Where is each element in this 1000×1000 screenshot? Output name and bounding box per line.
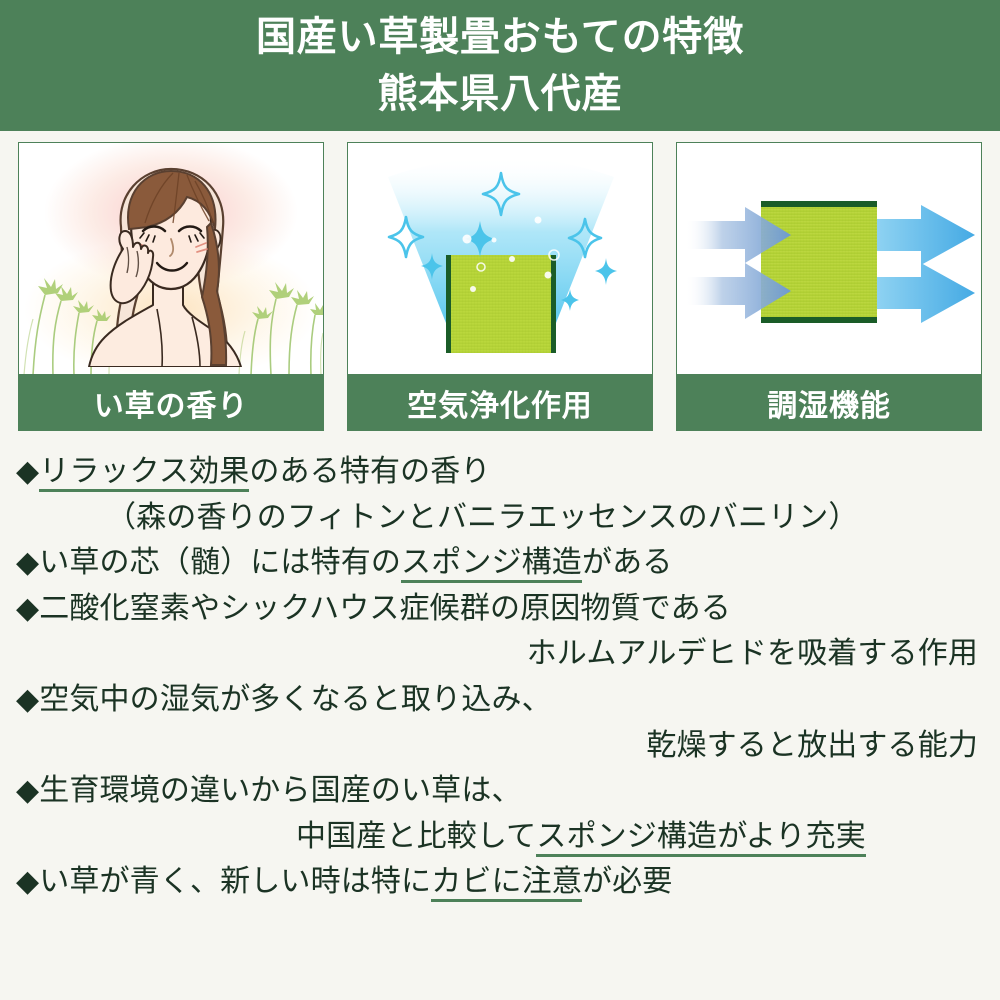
feature-text: のある特有の香り bbox=[249, 455, 490, 488]
feature-text: ホルムアルデヒドを吸着する作用 bbox=[527, 637, 978, 670]
highlighted-term: カビに注意 bbox=[431, 865, 582, 902]
bullet-diamond-icon: ◆ bbox=[16, 683, 39, 716]
feature-line: ◆空気中の湿気が多くなると取り込み、 bbox=[16, 677, 984, 723]
humidity-control-illustration bbox=[677, 143, 982, 374]
feature-text: い草の芯（髄）には特有の bbox=[39, 546, 401, 579]
feature-line: ◆生育環境の違いから国産のい草は、 bbox=[16, 768, 984, 814]
highlighted-term: リラックス効果 bbox=[39, 455, 249, 492]
feature-text: 乾燥すると放出する能力 bbox=[646, 729, 978, 762]
feature-line: 乾燥すると放出する能力 bbox=[16, 723, 984, 769]
humidity-figure bbox=[676, 142, 982, 374]
feature-line: ◆い草が青く、新しい時は特にカビに注意が必要 bbox=[16, 859, 984, 905]
feature-line: ◆二酸化窒素やシックハウス症候群の原因物質である bbox=[16, 586, 984, 632]
bullet-diamond-icon: ◆ bbox=[16, 865, 39, 898]
bullet-diamond-icon: ◆ bbox=[16, 592, 39, 625]
feature-text: （森の香りのフィトンとバニラエッセンスのバニリン） bbox=[106, 501, 859, 534]
aroma-figure bbox=[18, 142, 324, 374]
highlighted-term: スポンジ構造 bbox=[401, 546, 582, 583]
card-label-humidity: 調湿機能 bbox=[676, 374, 982, 431]
feature-text: 生育環境の違いから国産のい草は、 bbox=[39, 774, 521, 807]
bullet-diamond-icon: ◆ bbox=[16, 774, 39, 807]
feature-text: 二酸化窒素やシックハウス症候群の原因物質である bbox=[39, 592, 731, 625]
feature-card-humidity: 調湿機能 bbox=[676, 142, 982, 431]
feature-text: 中国産と比較して bbox=[296, 820, 536, 853]
feature-card-row: い草の香り bbox=[0, 131, 1000, 431]
feature-card-aroma: い草の香り bbox=[18, 142, 324, 431]
highlighted-term: スポンジ構造がより充実 bbox=[536, 820, 866, 857]
page-title-line1: 国産い草製畳おもての特徴 bbox=[256, 9, 744, 66]
feature-text: い草が青く、新しい時は特に bbox=[39, 865, 431, 898]
purification-figure bbox=[347, 142, 653, 374]
feature-line: ◆リラックス効果のある特有の香り bbox=[16, 449, 984, 495]
page-title-line2: 熊本県八代産 bbox=[378, 66, 623, 123]
card-label-aroma: い草の香り bbox=[18, 374, 324, 431]
bullet-diamond-icon: ◆ bbox=[16, 455, 39, 488]
feature-line: ◆い草の芯（髄）には特有のスポンジ構造がある bbox=[16, 540, 984, 586]
feature-line: ホルムアルデヒドを吸着する作用 bbox=[16, 631, 984, 677]
infographic-page: 国産い草製畳おもての特徴 熊本県八代産 bbox=[0, 0, 1000, 1000]
feature-line: （森の香りのフィトンとバニラエッセンスのバニリン） bbox=[16, 495, 984, 541]
air-purification-illustration bbox=[348, 143, 653, 374]
feature-text: が必要 bbox=[582, 865, 672, 898]
feature-text: がある bbox=[582, 546, 672, 579]
feature-card-purification: 空気浄化作用 bbox=[347, 142, 653, 431]
page-header: 国産い草製畳おもての特徴 熊本県八代産 bbox=[0, 0, 1000, 131]
feature-list: ◆リラックス効果のある特有の香り（森の香りのフィトンとバニラエッセンスのバニリン… bbox=[0, 431, 1000, 905]
woman-illustration bbox=[61, 157, 281, 367]
card-label-purification: 空気浄化作用 bbox=[347, 374, 653, 431]
feature-text: 空気中の湿気が多くなると取り込み、 bbox=[39, 683, 552, 716]
feature-line: 中国産と比較してスポンジ構造がより充実 bbox=[16, 814, 984, 860]
bullet-diamond-icon: ◆ bbox=[16, 546, 39, 579]
